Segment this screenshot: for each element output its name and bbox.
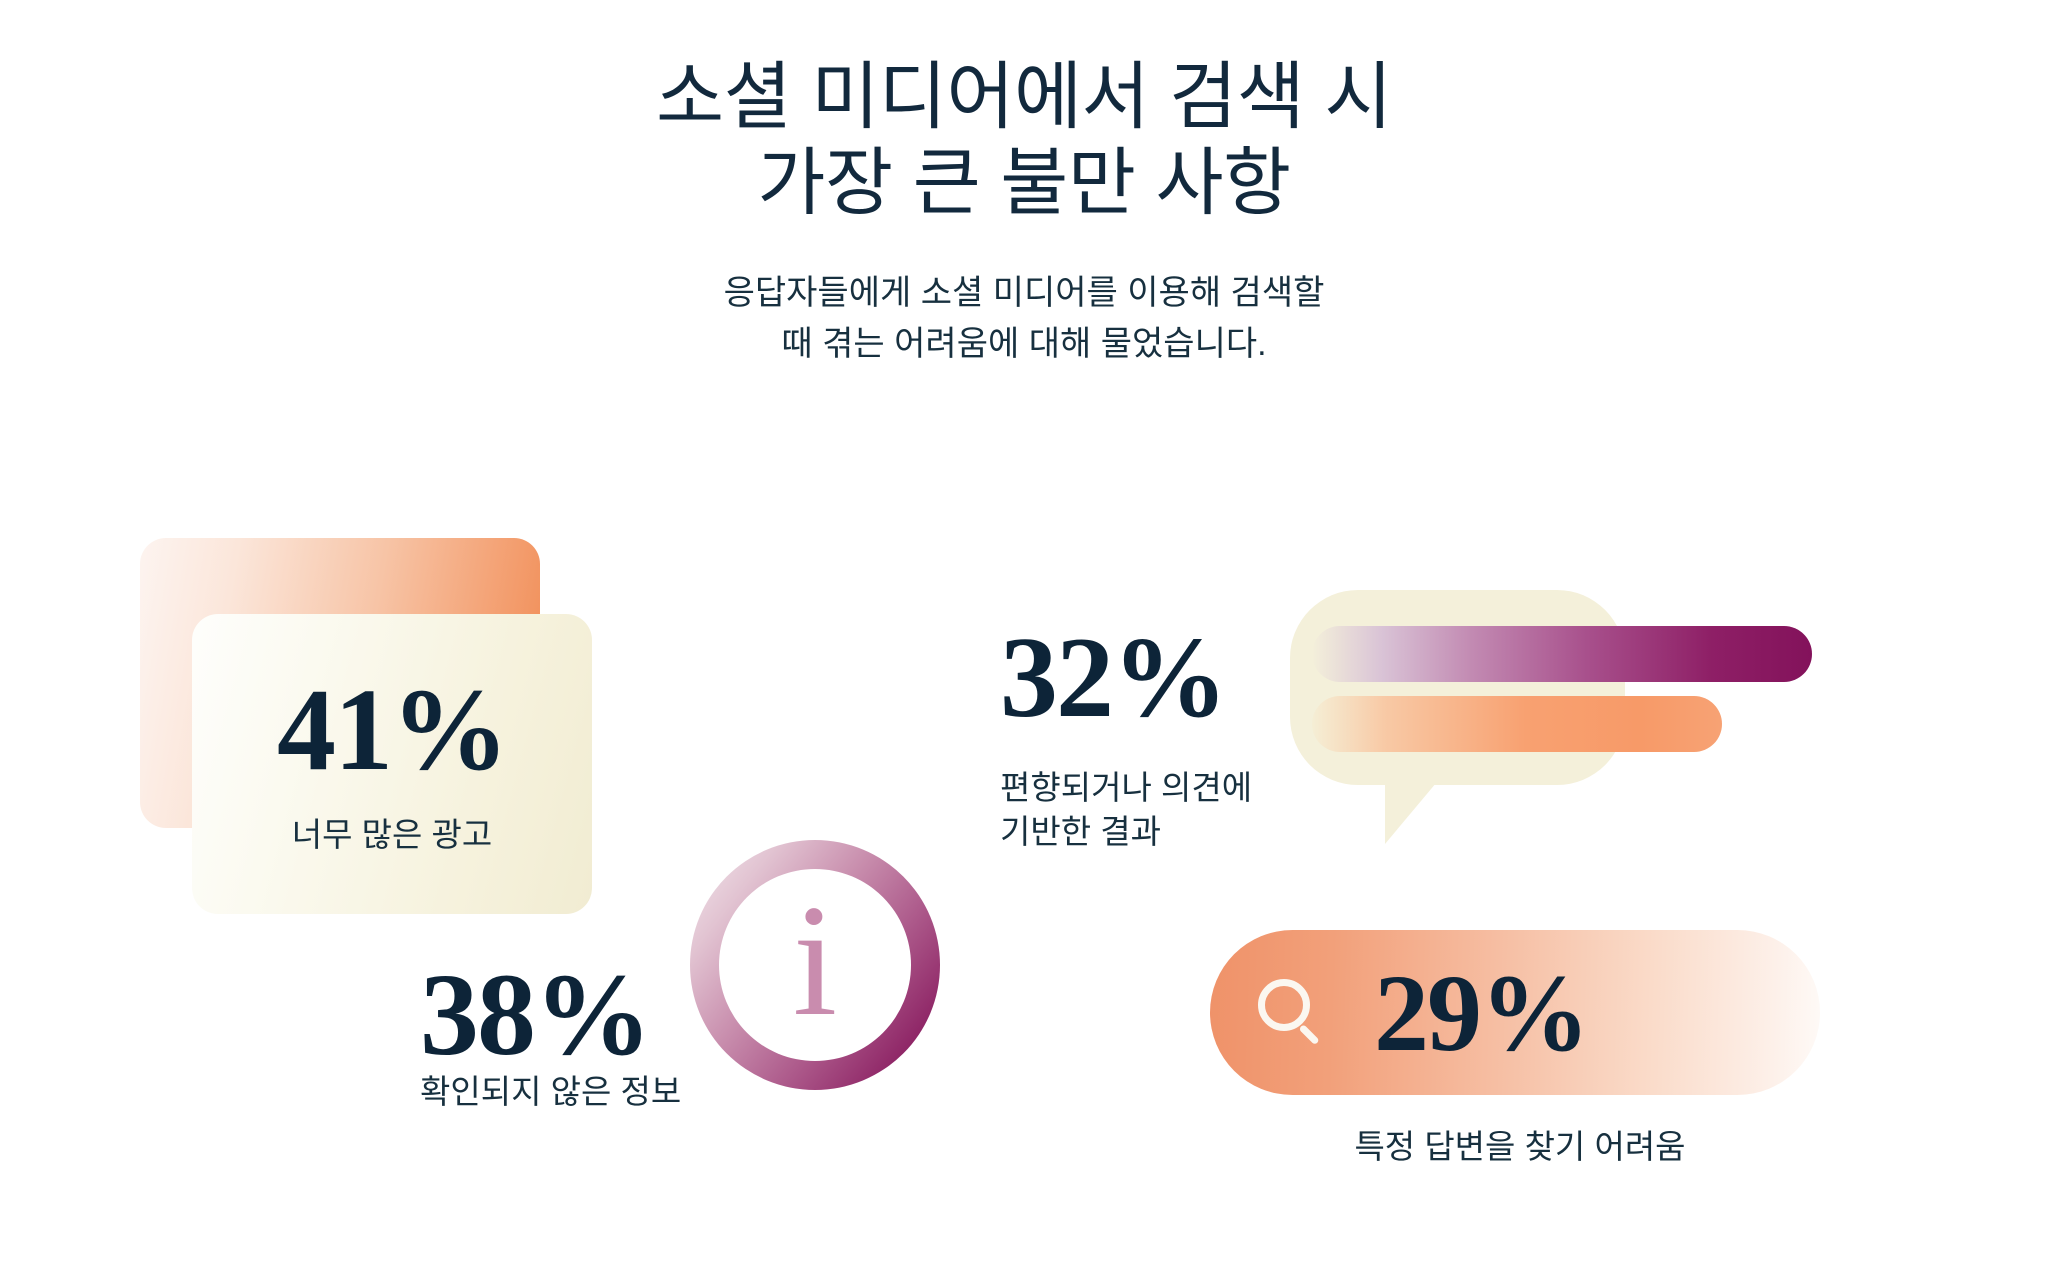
page-subtitle: 응답자들에게 소셜 미디어를 이용해 검색할 때 겪는 어려움에 대해 물었습니… — [0, 268, 2048, 370]
bubble-bar-orange — [1312, 696, 1722, 752]
stat-value-41: 41% — [277, 671, 507, 789]
stat-value-29: 29% — [1374, 958, 1588, 1068]
header: 소셜 미디어에서 검색 시 가장 큰 불만 사항 응답자들에게 소셜 미디어를 … — [0, 54, 2048, 370]
search-icon-handle — [1299, 1024, 1320, 1045]
bubble-bar-purple — [1312, 626, 1812, 682]
stat-pill-29: 29% — [1210, 930, 1820, 1095]
search-icon — [1258, 979, 1326, 1047]
stat-block-32: 32% 편향되거나 의견에 기반한 결과 — [1000, 620, 1300, 854]
page-title: 소셜 미디어에서 검색 시 가장 큰 불만 사항 — [0, 54, 2048, 226]
stat-label-32: 편향되거나 의견에 기반한 결과 — [1000, 766, 1300, 854]
info-icon: i — [690, 840, 940, 1090]
stat-value-38: 38% — [420, 956, 650, 1074]
infographic-canvas: 소셜 미디어에서 검색 시 가장 큰 불만 사항 응답자들에게 소셜 미디어를 … — [0, 0, 2048, 1283]
stat-label-wrap-29: 특정 답변을 찾기 어려움 — [1210, 1125, 1830, 1169]
stat-label-29: 특정 답변을 찾기 어려움 — [1210, 1125, 1830, 1169]
search-icon-ring — [1258, 979, 1310, 1031]
speech-bubble-body — [1290, 590, 1625, 785]
stat-value-32: 32% — [1000, 620, 1300, 736]
stat-label-41: 너무 많은 광고 — [292, 813, 493, 857]
card-front: 41% 너무 많은 광고 — [192, 614, 592, 914]
speech-bubble-tail — [1385, 770, 1447, 844]
info-icon-glyph: i — [690, 840, 940, 1090]
speech-bubble-graphic — [1290, 590, 1850, 860]
stat-card-41: 41% 너무 많은 광고 — [140, 538, 620, 918]
